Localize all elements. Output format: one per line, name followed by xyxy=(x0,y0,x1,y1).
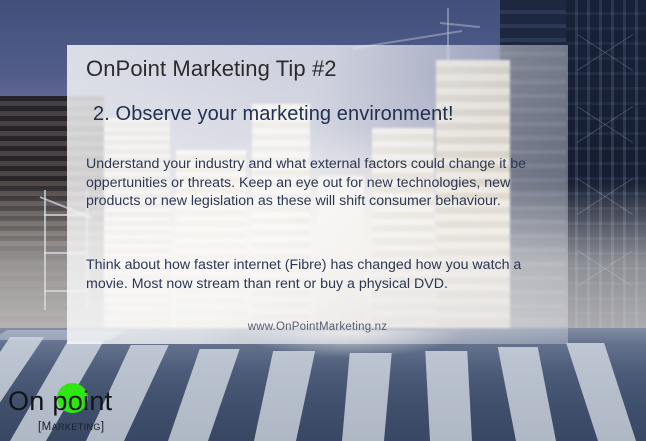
logo-wordmark: On point xyxy=(8,386,112,417)
logo-tagline: [MARKETING] xyxy=(38,421,104,433)
card-paragraph-2: Think about how faster internet (Fibre) … xyxy=(86,256,556,293)
brand-logo[interactable]: On point [MARKETING] xyxy=(8,380,168,436)
card-title: OnPoint Marketing Tip #2 xyxy=(86,56,337,82)
logo-marketing-initial: M xyxy=(42,421,52,433)
card-subtitle: 2. Observe your marketing environment! xyxy=(93,103,454,126)
logo-marketing-rest: ARKETING xyxy=(52,422,101,432)
logo-bracket-close: ] xyxy=(101,421,105,433)
card-paragraph-1: Understand your industry and what extern… xyxy=(86,155,556,211)
marketing-tip-graphic: OnPoint Marketing Tip #2 2. Observe your… xyxy=(0,0,646,441)
tip-content-card: OnPoint Marketing Tip #2 2. Observe your… xyxy=(67,45,568,344)
website-url[interactable]: www.OnPointMarketing.nz xyxy=(67,321,568,333)
